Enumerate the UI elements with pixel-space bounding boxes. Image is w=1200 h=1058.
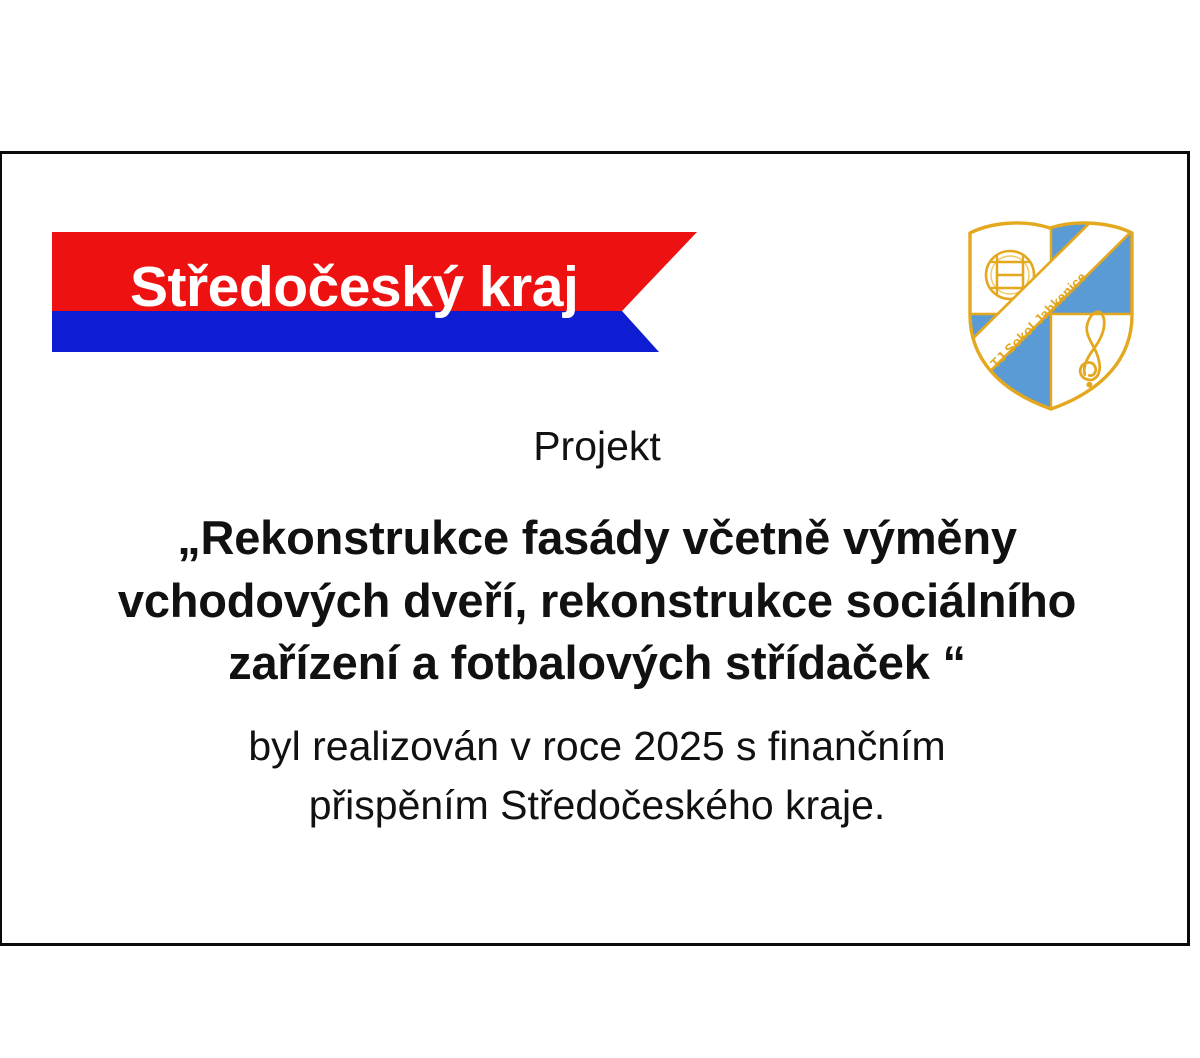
project-title-line-1: „Rekonstrukce fasády včetně výměny	[32, 507, 1162, 570]
notice-plaque: Středočeský kraj	[0, 151, 1190, 946]
notice-text-block: Projekt „Rekonstrukce fasády včetně výmě…	[2, 426, 1192, 835]
project-title: „Rekonstrukce fasády včetně výměny vchod…	[2, 507, 1192, 695]
project-closing-line-2: přispěním Středočeského kraje.	[32, 776, 1162, 835]
tj-sokol-jabkenice-crest: TJ Sokol Jabkenice	[962, 219, 1142, 411]
region-logo-label: Středočeský kraj	[130, 255, 578, 319]
project-closing: byl realizován v roce 2025 s finančním p…	[2, 717, 1192, 836]
project-closing-line-1: byl realizován v roce 2025 s finančním	[32, 717, 1162, 776]
stredocesky-kraj-logo: Středočeský kraj	[52, 232, 702, 354]
intro-line: Projekt	[2, 426, 1192, 467]
project-title-line-3: zařízení a fotbalových střídaček “	[32, 632, 1162, 695]
project-title-line-2: vchodových dveří, rekonstrukce sociálníh…	[32, 570, 1162, 633]
